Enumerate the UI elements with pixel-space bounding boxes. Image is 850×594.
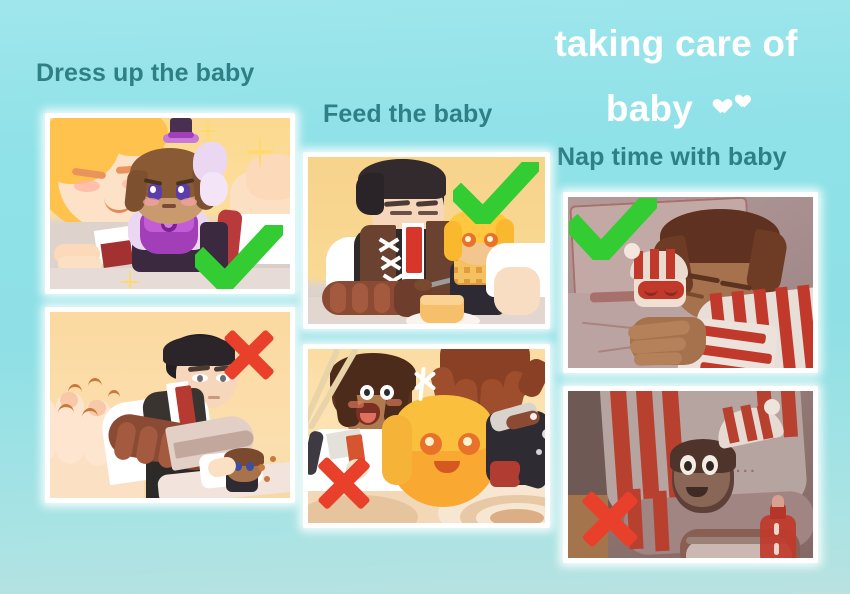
heart-icon [732, 90, 746, 103]
section-label-dress: Dress up the baby [36, 59, 254, 88]
page-title: taking care of baby [508, 18, 844, 135]
heart-decoration-group [703, 71, 746, 124]
illustration-feed-correct [308, 157, 545, 324]
panel-dress-incorrect[interactable] [45, 307, 295, 503]
section-label-nap: Nap time with baby [557, 143, 787, 172]
illustration-feed-incorrect [308, 349, 545, 523]
illustration-nap-correct [568, 197, 813, 368]
panel-nap-correct[interactable] [563, 192, 818, 373]
heart-icon [709, 93, 726, 109]
panel-dress-correct[interactable] [45, 113, 295, 294]
illustration-nap-incorrect: ... [568, 391, 813, 558]
title-line-1: taking care of [554, 23, 797, 64]
panel-feed-correct[interactable] [303, 152, 550, 329]
section-label-feed: Feed the baby [323, 100, 492, 129]
title-line-2: baby [606, 83, 693, 136]
sweat-dots: ... [736, 459, 758, 476]
poster-canvas: taking care of baby Dress up the baby Fe… [0, 0, 850, 594]
illustration-dress-incorrect [50, 312, 290, 498]
panel-nap-incorrect[interactable]: ... [563, 386, 818, 563]
illustration-dress-correct [50, 118, 290, 289]
panel-feed-incorrect[interactable] [303, 344, 550, 528]
